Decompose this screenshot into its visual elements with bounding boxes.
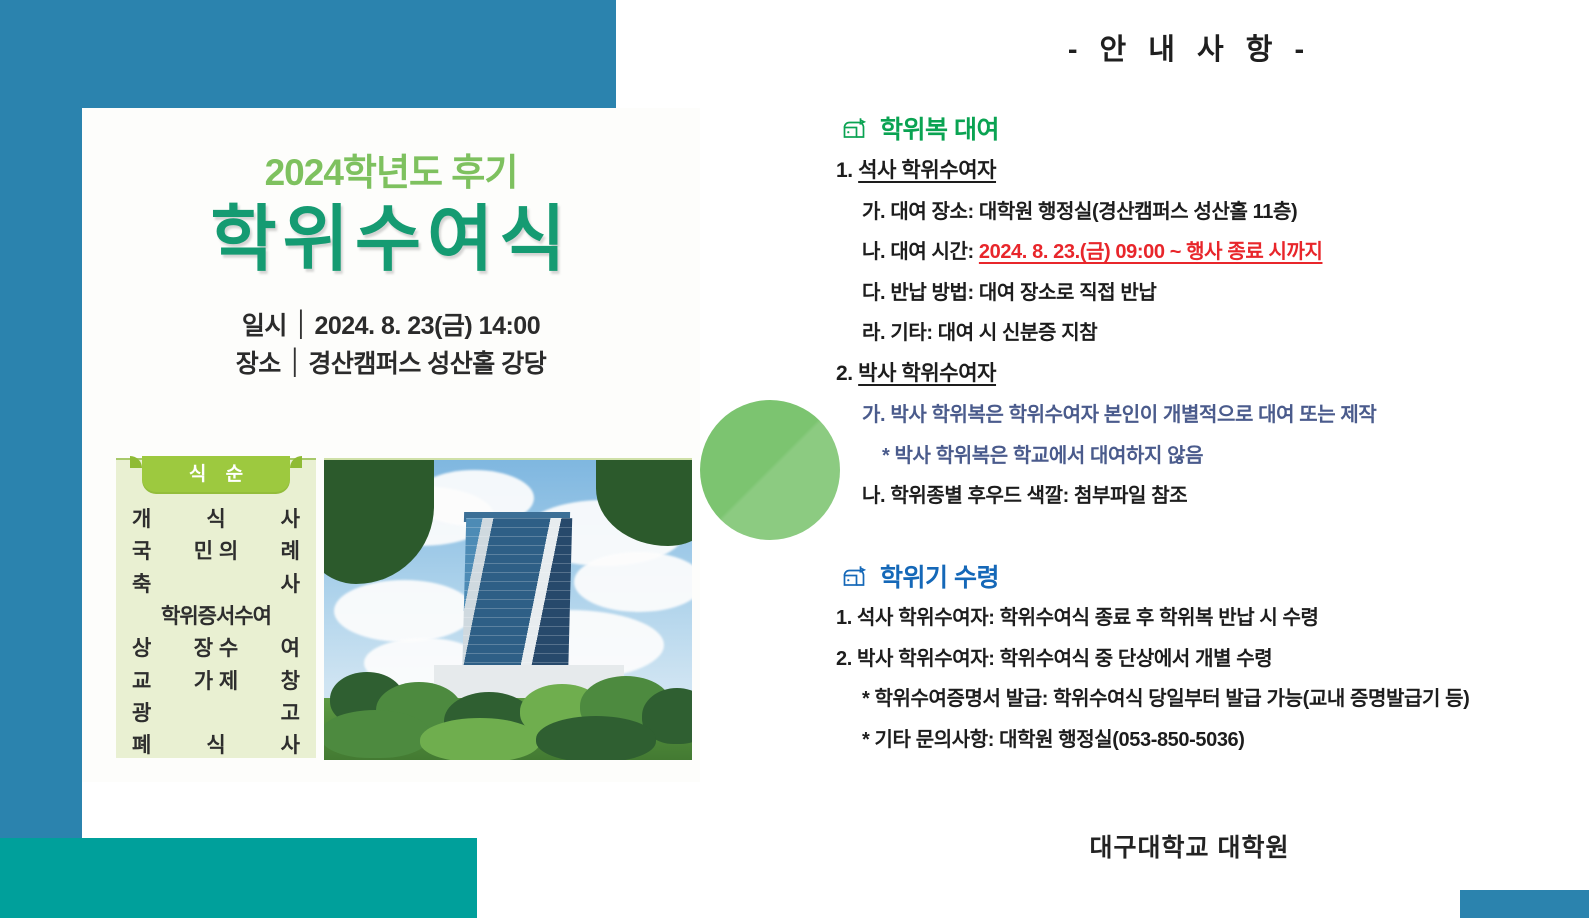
order-item-mid: 식 [206, 730, 225, 762]
poster-place-label: 장소 [236, 350, 281, 378]
pickup-certificate-note: * 학위수여증명서 발급: 학위수여식 당일부터 발급 가능(교내 증명발급기 … [862, 685, 1589, 713]
poster-year-line: 2024학년도 후기 [82, 142, 700, 196]
pickup-masters: 1. 석사 학위수여자: 학위수여식 종료 후 학위복 반납 시 수령 [836, 604, 1589, 632]
background-teal-block [0, 838, 477, 918]
list-item: 상장 수여 [132, 633, 300, 665]
list-item: 폐식사 [132, 730, 300, 762]
order-item-mid: 민 의 [194, 536, 238, 568]
campus-photo [324, 458, 692, 760]
organization-footer: 대구대학교 대학원 [790, 828, 1589, 864]
order-item-mid: 식 [206, 504, 225, 536]
order-item-left: 축 [132, 569, 151, 601]
program-order-title: 식 순 [142, 456, 290, 494]
section-header: 학위복 대여 [842, 110, 1589, 146]
poster-place-row: 장소׀경산캠퍼스 성산홀 강당 [82, 345, 700, 383]
subsection-doctoral-title: 2. 박사 학위수여자 [836, 359, 1589, 389]
poster-date-label: 일시 [242, 312, 287, 340]
order-item-left: 국 [132, 536, 151, 568]
doctoral-gown-note-star: * 박사 학위복은 학교에서 대여하지 않음 [882, 442, 1589, 470]
section-divider-space [790, 522, 1589, 552]
order-item-right: 창 [281, 666, 300, 698]
photo-shrub [420, 718, 540, 760]
list-item: 학위증서수여 [132, 601, 300, 633]
section-header: 학위기 수령 [842, 558, 1589, 594]
rental-time-value: 2024. 8. 23.(금) 09:00 ~ 행사 종료 시까지 [979, 241, 1323, 263]
photo-cloud [334, 580, 474, 642]
mailbox-icon [842, 116, 868, 140]
pickup-contact-note: * 기타 문의사항: 대학원 행정실(053-850-5036) [862, 726, 1589, 754]
ceremony-poster: 2024학년도 후기 학위수여식 일시׀2024. 8. 23(금) 14:00… [82, 108, 700, 782]
pickup-doctoral: 2. 박사 학위수여자: 학위수여식 중 단상에서 개별 수령 [836, 645, 1589, 673]
list-item: 축사 [132, 569, 300, 601]
section-heading-label: 학위복 대여 [880, 110, 999, 146]
page-title: - 안 내 사 항 - [790, 26, 1589, 68]
order-item-left: 폐 [132, 730, 151, 762]
rental-location: 가. 대여 장소: 대학원 행정실(경산캠퍼스 성산홀 11층) [862, 198, 1589, 226]
photo-building-tower [462, 518, 572, 688]
photo-shrub [536, 716, 656, 760]
order-item-right: 여 [281, 633, 300, 665]
order-item-left: 상 [132, 633, 151, 665]
order-item-left: 개 [132, 504, 151, 536]
slide-canvas: 2024학년도 후기 학위수여식 일시׀2024. 8. 23(금) 14:00… [0, 0, 1589, 918]
order-item-left: 교 [132, 666, 151, 698]
section-gown-rental: 학위복 대여 1. 석사 학위수여자 가. 대여 장소: 대학원 행정실(경산캠… [790, 110, 1589, 510]
poster-title: 학위수여식 [82, 200, 700, 281]
order-item-right: 고 [281, 698, 300, 730]
order-item-mid: 가 제 [194, 666, 238, 698]
poster-date-value: 2024. 8. 23(금) 14:00 [314, 312, 540, 340]
rental-time: 나. 대여 시간: 2024. 8. 23.(금) 09:00 ~ 행사 종료 … [862, 238, 1589, 266]
mailbox-icon [842, 564, 868, 588]
section-heading-label: 학위기 수령 [880, 558, 999, 594]
poster-place-value: 경산캠퍼스 성산홀 강당 [308, 350, 546, 378]
order-item-left: 학위증서수여 [161, 601, 271, 633]
order-item-right: 사 [281, 569, 300, 601]
poster-separator-2: ׀ [281, 345, 309, 383]
poster-lower-row: 식 순 개식사 국민 의례 축사 학위증서수여 상장 수여 교가 제창 광고 폐… [116, 458, 700, 760]
item-title: 박사 학위수여자 [858, 362, 996, 385]
item-number: 2. [836, 362, 853, 385]
photo-cloud [574, 552, 692, 612]
list-item: 교가 제창 [132, 666, 300, 698]
doctoral-hood-color: 나. 학위종별 후우드 색깔: 첨부파일 참조 [862, 482, 1589, 510]
item-number: 1. [836, 159, 853, 182]
list-item: 개식사 [132, 504, 300, 536]
subsection-masters-title: 1. 석사 학위수여자 [836, 156, 1589, 186]
item-title: 석사 학위수여자 [858, 159, 996, 182]
poster-meta: 일시׀2024. 8. 23(금) 14:00 장소׀경산캠퍼스 성산홀 강당 [82, 307, 700, 383]
list-item: 광고 [132, 698, 300, 730]
program-order-list: 개식사 국민 의례 축사 학위증서수여 상장 수여 교가 제창 광고 폐식사 [116, 504, 316, 763]
list-item: 국민 의례 [132, 536, 300, 568]
poster-date-row: 일시׀2024. 8. 23(금) 14:00 [82, 307, 700, 345]
announcement-panel: - 안 내 사 항 - 학위복 대여 1. 석사 학위수여자 [790, 0, 1589, 918]
photo-shrub [324, 710, 430, 758]
doctoral-gown-note-a: 가. 박사 학위복은 학위수여자 본인이 개별적으로 대여 또는 제작 [862, 401, 1589, 429]
rental-other: 라. 기타: 대여 시 신분증 지참 [862, 319, 1589, 347]
order-item-left: 광 [132, 698, 151, 730]
program-order-box: 식 순 개식사 국민 의례 축사 학위증서수여 상장 수여 교가 제창 광고 폐… [116, 458, 316, 758]
order-item-right: 례 [281, 536, 300, 568]
order-item-mid: 장 수 [194, 633, 238, 665]
rental-return-method: 다. 반납 방법: 대여 장소로 직접 반납 [862, 279, 1589, 307]
order-item-right: 사 [281, 504, 300, 536]
rental-time-label: 나. 대여 시간: [862, 241, 979, 263]
section-diploma-pickup: 학위기 수령 1. 석사 학위수여자: 학위수여식 종료 후 학위복 반납 시 … [790, 558, 1589, 754]
order-item-right: 사 [281, 730, 300, 762]
poster-separator-1: ׀ [287, 307, 315, 345]
